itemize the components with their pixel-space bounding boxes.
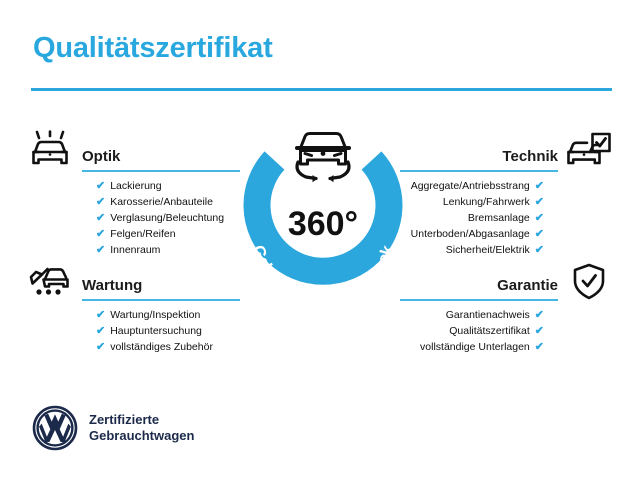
check-icon: ✔ [535, 197, 544, 208]
list-item-label: Unterboden/Abgasanlage [411, 226, 530, 242]
list-item-label: Bremsanlage [468, 210, 530, 226]
section-items: ✔Wartung/Inspektion ✔Hauptuntersuchung ✔… [82, 307, 240, 355]
check-icon: ✔ [96, 197, 105, 208]
section-optik: Optik ✔Lackierung ✔Karosserie/Anbauteile… [82, 142, 240, 258]
shield-check-icon [568, 261, 610, 303]
check-icon: ✔ [96, 245, 105, 256]
section-title: Wartung [82, 277, 142, 294]
section-wartung: Wartung ✔Wartung/Inspektion ✔Hauptunters… [82, 271, 240, 355]
list-item-label: Qualitätszertifikat [449, 323, 530, 339]
car-rotate-icon [297, 134, 349, 183]
check-icon: ✔ [535, 213, 544, 224]
check-icon: ✔ [535, 181, 544, 192]
list-item-label: Felgen/Reifen [110, 226, 175, 242]
check-icon: ✔ [96, 342, 105, 353]
list-item: Garantienachweis✔ [400, 307, 544, 323]
car-checkbox-icon [566, 130, 612, 172]
section-divider [82, 170, 240, 172]
volkswagen-logo [32, 405, 78, 451]
list-item: ✔vollständiges Zubehör [96, 339, 240, 355]
check-icon: ✔ [535, 326, 544, 337]
section-items: Aggregate/Antriebsstrang✔ Lenkung/Fahrwe… [400, 178, 558, 258]
list-item: ✔Lackierung [96, 178, 240, 194]
section-divider [82, 299, 240, 301]
list-item-label: Verglasung/Beleuchtung [110, 210, 224, 226]
list-item: Lenkung/Fahrwerk✔ [400, 194, 544, 210]
list-item: vollständige Unterlagen✔ [400, 339, 544, 355]
list-item: Aggregate/Antriebsstrang✔ [400, 178, 544, 194]
section-header: Wartung [82, 271, 240, 297]
list-item: ✔Wartung/Inspektion [96, 307, 240, 323]
title-divider [31, 88, 612, 91]
certificate-page: Qualitätszertifikat Optik ✔Lackierung ✔K… [0, 0, 640, 480]
list-item: Bremsanlage✔ [400, 210, 544, 226]
footer-brand: Zertifizierte Gebrauchtwagen [32, 405, 194, 451]
check-icon: ✔ [535, 245, 544, 256]
check-icon: ✔ [96, 213, 105, 224]
section-technik: Technik Aggregate/Antriebsstrang✔ Lenkun… [400, 142, 558, 258]
section-title: Optik [82, 148, 120, 165]
list-item: ✔Karosserie/Anbauteile [96, 194, 240, 210]
list-item: Unterboden/Abgasanlage✔ [400, 226, 544, 242]
list-item-label: vollständiges Zubehör [110, 339, 213, 355]
section-header: Garantie [400, 271, 558, 297]
footer-line-2: Gebrauchtwagen [89, 428, 194, 444]
list-item-label: Aggregate/Antriebsstrang [411, 178, 530, 194]
list-item: ✔Verglasung/Beleuchtung [96, 210, 240, 226]
list-item-label: Garantienachweis [446, 307, 530, 323]
list-item-label: Karosserie/Anbauteile [110, 194, 213, 210]
list-item-label: Hauptuntersuchung [110, 323, 202, 339]
check-icon: ✔ [96, 326, 105, 337]
badge-360-gebrauchtwagen-check: Gebrauchtwagen-Check 360° [228, 122, 418, 312]
list-item-label: vollständige Unterlagen [420, 339, 530, 355]
check-icon: ✔ [96, 310, 105, 321]
section-header: Technik [400, 142, 558, 168]
footer-line-1: Zertifizierte [89, 412, 194, 428]
section-header: Optik [82, 142, 240, 168]
list-item-label: Lackierung [110, 178, 161, 194]
list-item: ✔Hauptuntersuchung [96, 323, 240, 339]
section-items: ✔Lackierung ✔Karosserie/Anbauteile ✔Verg… [82, 178, 240, 258]
list-item: ✔Innenraum [96, 242, 240, 258]
check-icon: ✔ [535, 310, 544, 321]
list-item-label: Wartung/Inspektion [110, 307, 200, 323]
check-icon: ✔ [535, 342, 544, 353]
section-garantie: Garantie Garantienachweis✔ Qualitätszert… [400, 271, 558, 355]
list-item-label: Lenkung/Fahrwerk [443, 194, 530, 210]
car-front-lights-icon [27, 130, 73, 172]
car-service-pen-icon [27, 259, 73, 301]
list-item: Qualitätszertifikat✔ [400, 323, 544, 339]
section-title: Garantie [497, 277, 558, 294]
list-item-label: Innenraum [110, 242, 160, 258]
list-item-label: Sicherheit/Elektrik [446, 242, 530, 258]
check-icon: ✔ [96, 229, 105, 240]
footer-text: Zertifizierte Gebrauchtwagen [89, 412, 194, 444]
list-item: Sicherheit/Elektrik✔ [400, 242, 544, 258]
check-icon: ✔ [96, 181, 105, 192]
check-icon: ✔ [535, 229, 544, 240]
list-item: ✔Felgen/Reifen [96, 226, 240, 242]
page-title: Qualitätszertifikat [33, 32, 273, 65]
section-divider [400, 170, 558, 172]
section-divider [400, 299, 558, 301]
section-items: Garantienachweis✔ Qualitätszertifikat✔ v… [400, 307, 558, 355]
badge-center-label: 360° [288, 205, 358, 243]
section-title: Technik [502, 148, 558, 165]
